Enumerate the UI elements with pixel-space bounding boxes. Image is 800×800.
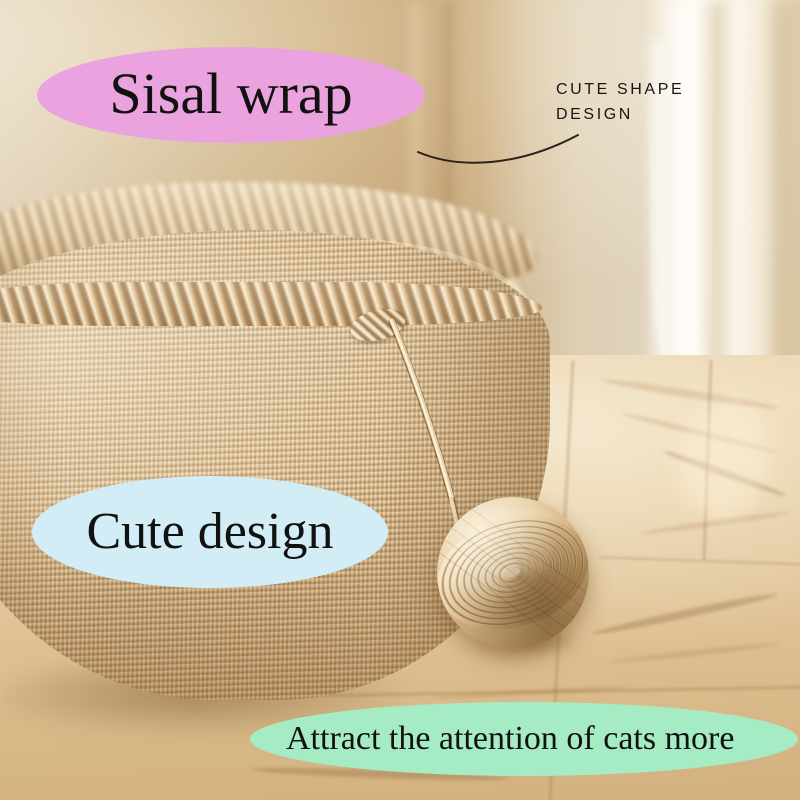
- caption-line-1: CUTE SHAPE: [556, 78, 736, 103]
- sisal-ball-toy: [437, 497, 589, 649]
- ball-shading: [437, 497, 589, 649]
- badge-cute-design-label: Cute design: [87, 502, 334, 561]
- cute-shape-design-caption: CUTE SHAPE DESIGN: [556, 78, 736, 128]
- badge-attract-cats-label: Attract the attention of cats more: [250, 720, 734, 758]
- curtain-shadow: [762, 0, 800, 400]
- badge-sisal-wrap: Sisal wrap: [37, 47, 425, 143]
- caption-line-2: DESIGN: [556, 103, 736, 128]
- badge-cute-design: Cute design: [32, 476, 388, 588]
- badge-attract-cats: Attract the attention of cats more: [250, 702, 798, 776]
- product-photo-scene: CUTE SHAPE DESIGN Sisal wrap Cute design…: [0, 0, 800, 800]
- badge-sisal-wrap-label: Sisal wrap: [109, 60, 352, 127]
